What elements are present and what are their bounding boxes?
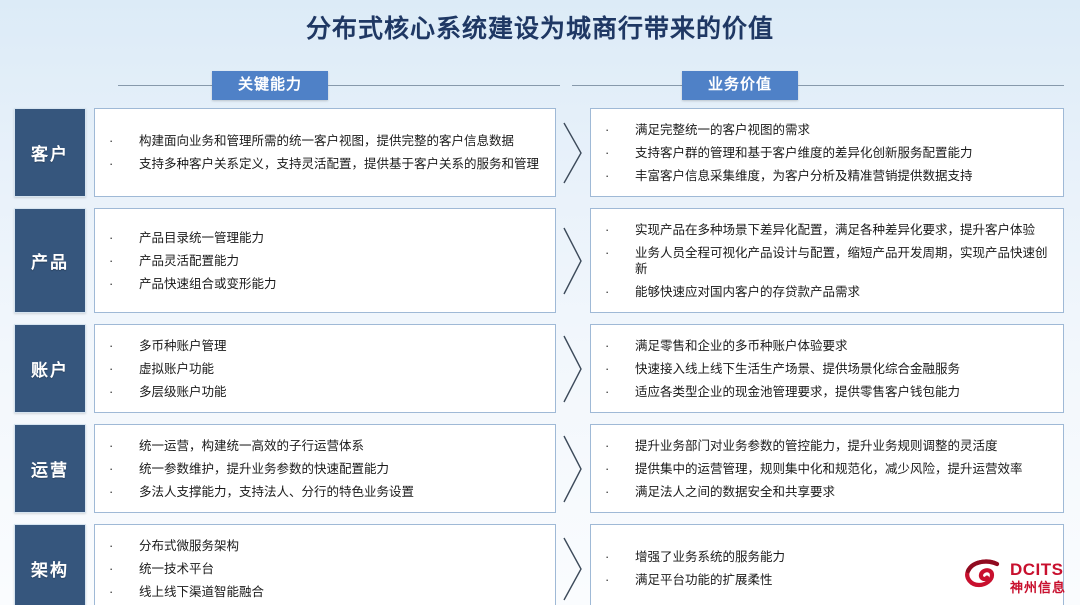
bullet-list: · 统一运营，构建统一高效的子行运营体系 · 统一参数维护，提升业务参数的快速配…	[109, 434, 543, 503]
list-item: · 多法人支撑能力，支持法人、分行的特色业务设置	[109, 480, 543, 503]
list-item-text: 适应各类型企业的现金池管理要求，提供零售客户钱包能力	[635, 384, 1051, 400]
bullet-dot-icon: ·	[605, 284, 635, 300]
header-rule-right	[328, 85, 560, 86]
value-panel-operations: · 提升业务部门对业务参数的管控能力，提升业务规则调整的灵活度 · 提供集中的运…	[590, 424, 1064, 513]
table-row: 客户 · 构建面向业务和管理所需的统一客户视图，提供完整的客户信息数据 · 支持…	[14, 108, 1064, 197]
capabilities-panel-customer: · 构建面向业务和管理所需的统一客户视图，提供完整的客户信息数据 · 支持多种客…	[94, 108, 556, 197]
chevron-right-icon	[556, 108, 590, 197]
list-item: · 多层级账户功能	[109, 380, 543, 403]
list-item: · 产品目录统一管理能力	[109, 226, 543, 249]
column-header-capabilities: 关键能力	[118, 70, 560, 100]
row-label-account: 账户	[14, 324, 86, 413]
chevron-right-icon	[556, 208, 590, 313]
logo-name-en: DCITS	[1010, 561, 1066, 578]
list-item-text: 统一参数维护，提升业务参数的快速配置能力	[139, 461, 543, 477]
bullet-dot-icon: ·	[605, 384, 635, 400]
bullet-dot-icon: ·	[605, 572, 635, 588]
value-panel-customer: · 满足完整统一的客户视图的需求 · 支持客户群的管理和基于客户维度的差异化创新…	[590, 108, 1064, 197]
bullet-dot-icon: ·	[605, 168, 635, 184]
list-item: · 丰富客户信息采集维度，为客户分析及精准营销提供数据支持	[605, 164, 1051, 187]
bullet-list: · 产品目录统一管理能力 · 产品灵活配置能力 · 产品快速组合或变形能力	[109, 226, 543, 295]
title-bar: 分布式核心系统建设为城商行带来的价值	[0, 0, 1080, 56]
header-rule-left	[572, 85, 682, 86]
bullet-dot-icon: ·	[109, 361, 139, 377]
bullet-dot-icon: ·	[605, 549, 635, 565]
bullet-dot-icon: ·	[109, 484, 139, 500]
list-item: · 业务人员全程可视化产品设计与配置，缩短产品开发周期，实现产品快速创新	[605, 241, 1051, 280]
row-label-product: 产品	[14, 208, 86, 313]
list-item-text: 满足零售和企业的多币种账户体验要求	[635, 338, 1051, 354]
bullet-dot-icon: ·	[605, 145, 635, 161]
list-item: · 适应各类型企业的现金池管理要求，提供零售客户钱包能力	[605, 380, 1051, 403]
table-row: 账户 · 多币种账户管理 · 虚拟账户功能 · 多层级账户功能	[14, 324, 1064, 413]
list-item: · 统一技术平台	[109, 557, 543, 580]
bullet-list: · 多币种账户管理 · 虚拟账户功能 · 多层级账户功能	[109, 334, 543, 403]
list-item-text: 构建面向业务和管理所需的统一客户视图，提供完整的客户信息数据	[139, 133, 543, 149]
bullet-dot-icon: ·	[109, 156, 139, 172]
list-item-text: 实现产品在多种场景下差异化配置，满足各种差异化要求，提升客户体验	[635, 222, 1051, 238]
bullet-dot-icon: ·	[605, 361, 635, 377]
row-label-customer: 客户	[14, 108, 86, 197]
capabilities-panel-product: · 产品目录统一管理能力 · 产品灵活配置能力 · 产品快速组合或变形能力	[94, 208, 556, 313]
list-item-text: 统一技术平台	[139, 561, 543, 577]
list-item-text: 虚拟账户功能	[139, 361, 543, 377]
table-row: 架构 · 分布式微服务架构 · 统一技术平台 · 线上线下渠道智能融合	[14, 524, 1064, 605]
bullet-dot-icon: ·	[109, 338, 139, 354]
list-item-text: 支持客户群的管理和基于客户维度的差异化创新服务配置能力	[635, 145, 1051, 161]
bullet-dot-icon: ·	[109, 276, 139, 292]
list-item: · 快速接入线上线下生活生产场景、提供场景化综合金融服务	[605, 357, 1051, 380]
list-item: · 提升业务部门对业务参数的管控能力，提升业务规则调整的灵活度	[605, 434, 1051, 457]
list-item-text: 多法人支撑能力，支持法人、分行的特色业务设置	[139, 484, 543, 500]
list-item-text: 满足完整统一的客户视图的需求	[635, 122, 1051, 138]
list-item: · 分布式微服务架构	[109, 534, 543, 557]
row-label-architecture: 架构	[14, 524, 86, 605]
list-item-text: 多币种账户管理	[139, 338, 543, 354]
list-item: · 支持客户群的管理和基于客户维度的差异化创新服务配置能力	[605, 141, 1051, 164]
list-item: · 多币种账户管理	[109, 334, 543, 357]
bullet-dot-icon: ·	[109, 584, 139, 600]
list-item-text: 多层级账户功能	[139, 384, 543, 400]
bullet-dot-icon: ·	[109, 133, 139, 149]
list-item-text: 产品灵活配置能力	[139, 253, 543, 269]
list-item-text: 快速接入线上线下生活生产场景、提供场景化综合金融服务	[635, 361, 1051, 377]
logo-name-cn: 神州信息	[1010, 581, 1066, 594]
bullet-dot-icon: ·	[605, 438, 635, 454]
bullet-dot-icon: ·	[605, 338, 635, 354]
bullet-dot-icon: ·	[109, 561, 139, 577]
list-item-text: 线上线下渠道智能融合	[139, 584, 543, 600]
capabilities-panel-operations: · 统一运营，构建统一高效的子行运营体系 · 统一参数维护，提升业务参数的快速配…	[94, 424, 556, 513]
bullet-dot-icon: ·	[605, 222, 635, 238]
list-item-text: 提供集中的运营管理，规则集中化和规范化，减少风险，提升运营效率	[635, 461, 1051, 477]
chevron-right-icon	[556, 424, 590, 513]
list-item-text: 满足法人之间的数据安全和共享要求	[635, 484, 1051, 500]
bullet-list: · 构建面向业务和管理所需的统一客户视图，提供完整的客户信息数据 · 支持多种客…	[109, 130, 543, 176]
list-item: · 提供集中的运营管理，规则集中化和规范化，减少风险，提升运营效率	[605, 457, 1051, 480]
logo-text: DCITS 神州信息	[1010, 561, 1066, 594]
header-rule-left	[118, 85, 212, 86]
chevron-right-icon	[556, 324, 590, 413]
column-headers: 关键能力 业务价值	[0, 70, 1080, 108]
list-item: · 统一运营，构建统一高效的子行运营体系	[109, 434, 543, 457]
bullet-dot-icon: ·	[605, 245, 635, 261]
chevron-right-icon	[556, 524, 590, 605]
list-item: · 满足完整统一的客户视图的需求	[605, 118, 1051, 141]
table-row: 运营 · 统一运营，构建统一高效的子行运营体系 · 统一参数维护，提升业务参数的…	[14, 424, 1064, 513]
list-item: · 满足法人之间的数据安全和共享要求	[605, 480, 1051, 503]
brand-logo: DCITS 神州信息	[964, 558, 1066, 597]
list-item-text: 能够快速应对国内客户的存贷款产品需求	[635, 284, 1051, 300]
bullet-dot-icon: ·	[605, 461, 635, 477]
list-item-text: 分布式微服务架构	[139, 538, 543, 554]
list-item: · 统一参数维护，提升业务参数的快速配置能力	[109, 457, 543, 480]
bullet-list: · 分布式微服务架构 · 统一技术平台 · 线上线下渠道智能融合	[109, 534, 543, 603]
badge-key-capabilities: 关键能力	[212, 71, 328, 100]
list-item: · 能够快速应对国内客户的存贷款产品需求	[605, 280, 1051, 303]
bullet-list: · 实现产品在多种场景下差异化配置，满足各种差异化要求，提升客户体验 · 业务人…	[605, 218, 1051, 303]
list-item-text: 业务人员全程可视化产品设计与配置，缩短产品开发周期，实现产品快速创新	[635, 245, 1051, 277]
list-item: · 支持多种客户关系定义，支持灵活配置，提供基于客户关系的服务和管理	[109, 153, 543, 176]
list-item-text: 产品快速组合或变形能力	[139, 276, 543, 292]
bullet-dot-icon: ·	[605, 484, 635, 500]
bullet-list: · 满足零售和企业的多币种账户体验要求 · 快速接入线上线下生活生产场景、提供场…	[605, 334, 1051, 403]
list-item-text: 统一运营，构建统一高效的子行运营体系	[139, 438, 543, 454]
list-item: · 产品快速组合或变形能力	[109, 272, 543, 295]
page-title: 分布式核心系统建设为城商行带来的价值	[0, 13, 1080, 45]
list-item-text: 丰富客户信息采集维度，为客户分析及精准营销提供数据支持	[635, 168, 1051, 184]
value-panel-account: · 满足零售和企业的多币种账户体验要求 · 快速接入线上线下生活生产场景、提供场…	[590, 324, 1064, 413]
list-item: · 实现产品在多种场景下差异化配置，满足各种差异化要求，提升客户体验	[605, 218, 1051, 241]
header-rule-right	[798, 85, 1064, 86]
list-item: · 线上线下渠道智能融合	[109, 580, 543, 603]
badge-business-value: 业务价值	[682, 71, 798, 100]
capabilities-panel-account: · 多币种账户管理 · 虚拟账户功能 · 多层级账户功能	[94, 324, 556, 413]
list-item-text: 产品目录统一管理能力	[139, 230, 543, 246]
bullet-dot-icon: ·	[605, 122, 635, 138]
table-row: 产品 · 产品目录统一管理能力 · 产品灵活配置能力 · 产品快速组合或变形能力	[14, 208, 1064, 313]
list-item-text: 支持多种客户关系定义，支持灵活配置，提供基于客户关系的服务和管理	[139, 156, 543, 172]
list-item-text: 提升业务部门对业务参数的管控能力，提升业务规则调整的灵活度	[635, 438, 1051, 454]
list-item: · 虚拟账户功能	[109, 357, 543, 380]
bullet-dot-icon: ·	[109, 438, 139, 454]
bullet-list: · 满足完整统一的客户视图的需求 · 支持客户群的管理和基于客户维度的差异化创新…	[605, 118, 1051, 187]
swirl-icon	[964, 558, 1004, 597]
bullet-dot-icon: ·	[109, 538, 139, 554]
rows-container: 客户 · 构建面向业务和管理所需的统一客户视图，提供完整的客户信息数据 · 支持…	[0, 108, 1080, 605]
capabilities-panel-architecture: · 分布式微服务架构 · 统一技术平台 · 线上线下渠道智能融合	[94, 524, 556, 605]
bullet-dot-icon: ·	[109, 461, 139, 477]
column-header-business-value: 业务价值	[572, 70, 1064, 100]
row-label-operations: 运营	[14, 424, 86, 513]
bullet-dot-icon: ·	[109, 230, 139, 246]
list-item: · 产品灵活配置能力	[109, 249, 543, 272]
value-panel-product: · 实现产品在多种场景下差异化配置，满足各种差异化要求，提升客户体验 · 业务人…	[590, 208, 1064, 313]
list-item: · 构建面向业务和管理所需的统一客户视图，提供完整的客户信息数据	[109, 130, 543, 153]
bullet-dot-icon: ·	[109, 253, 139, 269]
list-item: · 满足零售和企业的多币种账户体验要求	[605, 334, 1051, 357]
bullet-list: · 提升业务部门对业务参数的管控能力，提升业务规则调整的灵活度 · 提供集中的运…	[605, 434, 1051, 503]
bullet-dot-icon: ·	[109, 384, 139, 400]
